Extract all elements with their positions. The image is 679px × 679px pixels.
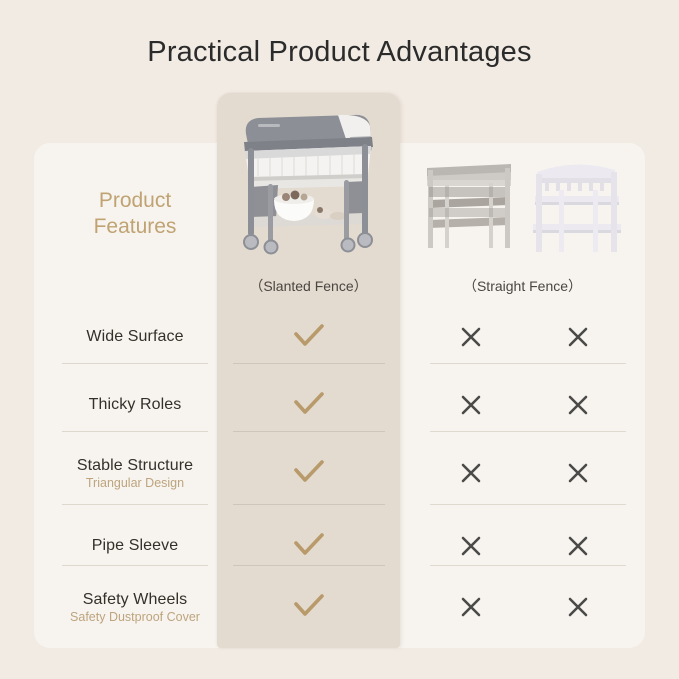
row-divider (233, 363, 385, 364)
rival1-mark-cell (418, 303, 523, 371)
feature-label-cell: Wide Surface (50, 303, 220, 371)
featured-mark-cell (217, 303, 400, 371)
row-divider (233, 565, 385, 566)
check-icon (289, 317, 329, 357)
feature-name: Thicky Roles (89, 396, 182, 414)
cross-icon (458, 460, 484, 486)
check-icon (289, 587, 329, 627)
featured-mark-cell (217, 512, 400, 580)
row-divider (62, 504, 208, 505)
cross-icon (458, 324, 484, 350)
row-divider (62, 431, 208, 432)
rival2-mark-cell (525, 573, 630, 641)
cross-icon (565, 533, 591, 559)
feature-label-cell: Thicky Roles (50, 371, 220, 439)
table-row: Thicky Roles (0, 371, 679, 439)
rival1-mark-cell (418, 512, 523, 580)
cross-icon (565, 324, 591, 350)
check-icon (289, 526, 329, 566)
cross-icon (458, 594, 484, 620)
rival2-mark-cell (525, 439, 630, 507)
row-divider (430, 363, 626, 364)
cross-icon (565, 594, 591, 620)
table-row: Safety Wheels Safety Dustproof Cover (0, 573, 679, 641)
rival2-mark-cell (525, 371, 630, 439)
feature-label-cell: Stable Structure Triangular Design (50, 439, 220, 507)
feature-subtitle: Triangular Design (86, 476, 184, 490)
feature-name: Stable Structure (77, 457, 193, 475)
featured-mark-cell (217, 371, 400, 439)
cross-icon (565, 460, 591, 486)
check-icon (289, 385, 329, 425)
row-divider (233, 431, 385, 432)
rival1-mark-cell (418, 573, 523, 641)
feature-name: Pipe Sleeve (92, 537, 179, 555)
row-divider (430, 431, 626, 432)
row-divider (233, 504, 385, 505)
cross-icon (458, 392, 484, 418)
comparison-rows: Wide Surface Thicky Roles (0, 0, 679, 679)
feature-name: Safety Wheels (83, 591, 187, 609)
feature-subtitle: Safety Dustproof Cover (70, 610, 200, 624)
row-divider (62, 363, 208, 364)
table-row: Wide Surface (0, 303, 679, 371)
cross-icon (458, 533, 484, 559)
rival2-mark-cell (525, 512, 630, 580)
rival1-mark-cell (418, 371, 523, 439)
cross-icon (565, 392, 591, 418)
check-icon (289, 453, 329, 493)
featured-mark-cell (217, 439, 400, 507)
rival2-mark-cell (525, 303, 630, 371)
table-row: Stable Structure Triangular Design (0, 439, 679, 507)
featured-mark-cell (217, 573, 400, 641)
row-divider (62, 565, 208, 566)
feature-name: Wide Surface (86, 328, 183, 346)
table-row: Pipe Sleeve (0, 512, 679, 580)
rival1-mark-cell (418, 439, 523, 507)
feature-label-cell: Safety Wheels Safety Dustproof Cover (50, 573, 220, 641)
feature-label-cell: Pipe Sleeve (50, 512, 220, 580)
row-divider (430, 565, 626, 566)
row-divider (430, 504, 626, 505)
